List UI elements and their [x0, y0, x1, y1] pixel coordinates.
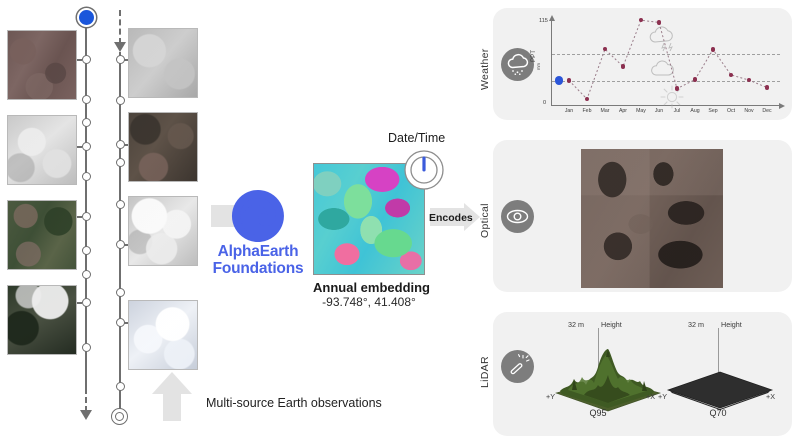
list-item[interactable]: [128, 112, 198, 182]
timeline-right-node[interactable]: [116, 158, 125, 167]
timeline-left-node[interactable]: [82, 142, 91, 151]
chart-xtick: Jan: [559, 108, 579, 114]
optical-satellite-image[interactable]: [581, 149, 723, 288]
chart-y-axis-arrow-icon: [549, 15, 555, 21]
timeline-left-node[interactable]: [82, 343, 91, 352]
storm-cloud-glyph-icon: [645, 22, 691, 57]
lidar-height-label: Height: [721, 320, 742, 329]
timeline-rail-right-dash: [119, 10, 121, 44]
chart-xtick: Oct: [721, 108, 741, 114]
chart-xtick: Apr: [613, 108, 633, 114]
chart-point[interactable]: [621, 64, 625, 68]
brand-line-2: Foundations: [213, 260, 304, 277]
chart-xtick: Sep: [703, 108, 723, 114]
chart-xtick: Aug: [685, 108, 705, 114]
chart-xtick: Feb: [577, 108, 597, 114]
chart-xtick: Mar: [595, 108, 615, 114]
embedding-title: Annual embedding: [313, 280, 425, 295]
timeline-right-node[interactable]: [116, 288, 125, 297]
timeline-right-origin-node[interactable]: [111, 408, 128, 425]
list-item[interactable]: [7, 200, 77, 270]
timeline-left-node[interactable]: [82, 55, 91, 64]
chart-point[interactable]: [567, 78, 571, 82]
embedding-coords: -93.748°, 41.408°: [313, 295, 425, 309]
timeline-right-arrow-icon: [114, 42, 126, 52]
chart-x-axis-arrow-icon: [779, 103, 785, 109]
timeline-left-node[interactable]: [82, 246, 91, 255]
chart-xtick: Jul: [667, 108, 687, 114]
chart-ytick-min: 0: [543, 100, 546, 106]
lidar-height-label: Height: [601, 320, 622, 329]
chart-ytick-max: 115: [539, 18, 548, 24]
chart-y-axis-label: PPT: [530, 50, 537, 62]
timeline-left-node[interactable]: [82, 212, 91, 221]
chart-y-axis-label-unit: mm: [536, 63, 541, 70]
panel-label-optical: Optical: [479, 196, 491, 238]
chart-point[interactable]: [657, 20, 661, 24]
datetime-knob-icon[interactable]: [404, 150, 444, 190]
chart-point[interactable]: [711, 47, 715, 51]
chart-highlight-point[interactable]: [555, 76, 564, 85]
list-item[interactable]: [128, 196, 198, 266]
alphaearth-logo-icon: [230, 188, 286, 244]
chart-point[interactable]: [639, 18, 643, 22]
lidar-plot-caption: Q70: [698, 408, 738, 418]
lidar-wand-icon: [501, 350, 534, 383]
timeline-right-node[interactable]: [116, 382, 125, 391]
eye-icon: [501, 200, 534, 233]
lidar-plot-caption: Q95: [578, 408, 618, 418]
timeline-rail-right: [119, 52, 121, 412]
precipitation-chart: 115 0 PPT mm: [528, 14, 786, 112]
lidar-axis-x-label: +X: [766, 392, 775, 401]
list-item[interactable]: [128, 300, 198, 370]
list-item[interactable]: [7, 115, 77, 185]
lidar-scale-label: 32 m: [568, 320, 584, 329]
timeline-left-node[interactable]: [82, 298, 91, 307]
list-item[interactable]: [128, 28, 198, 98]
chart-xtick: Jun: [649, 108, 669, 114]
datetime-label: Date/Time: [388, 131, 445, 145]
lidar-scale-label: 32 m: [688, 320, 704, 329]
chart-point[interactable]: [729, 73, 733, 77]
timeline-left-node[interactable]: [82, 118, 91, 127]
panel-label-lidar: LiDAR: [479, 352, 491, 388]
timeline-left-node[interactable]: [82, 95, 91, 104]
chart-point[interactable]: [603, 47, 607, 51]
cloud-glyph-icon: [648, 59, 692, 82]
timeline-left-current-node[interactable]: [77, 8, 96, 27]
chart-y-axis: [551, 20, 552, 106]
lidar-axis-x-label: +X: [646, 392, 655, 401]
chart-point[interactable]: [765, 85, 769, 89]
timeline-left-arrow-icon: [80, 410, 92, 420]
source-caption: Multi-source Earth observations: [206, 396, 382, 410]
timeline-left-node[interactable]: [82, 172, 91, 181]
lidar-axis-y-label: +Y: [658, 392, 667, 401]
chart-xtick: Dec: [757, 108, 777, 114]
timeline-left-node[interactable]: [82, 270, 91, 279]
infographic-root: Multi-source Earth observations AlphaEar…: [0, 0, 796, 440]
chart-xtick: Nov: [739, 108, 759, 114]
timeline-right-node[interactable]: [116, 200, 125, 209]
chart-point[interactable]: [747, 78, 751, 82]
list-item[interactable]: [7, 285, 77, 355]
list-item[interactable]: [7, 30, 77, 100]
lidar-flat-surface: [660, 364, 780, 414]
encodes-label: Encodes: [429, 212, 473, 224]
timeline-right-node[interactable]: [116, 96, 125, 105]
timeline-rail-left: [85, 22, 87, 390]
chart-point[interactable]: [585, 97, 589, 101]
timeline-rail-left-dash: [85, 388, 87, 412]
brand-line-1: AlphaEarth: [218, 243, 299, 260]
panel-label-weather: Weather: [479, 44, 491, 90]
chart-point[interactable]: [675, 86, 679, 90]
chart-point[interactable]: [693, 77, 697, 81]
lidar-axis-y-label: +Y: [546, 392, 555, 401]
brand-name: AlphaEarth Foundations: [200, 243, 316, 277]
chart-xtick: May: [631, 108, 651, 114]
multi-source-arrow-icon: [152, 372, 192, 394]
lidar-canopy-surface: [548, 345, 668, 415]
multi-source-arrow-shaft: [163, 393, 181, 421]
